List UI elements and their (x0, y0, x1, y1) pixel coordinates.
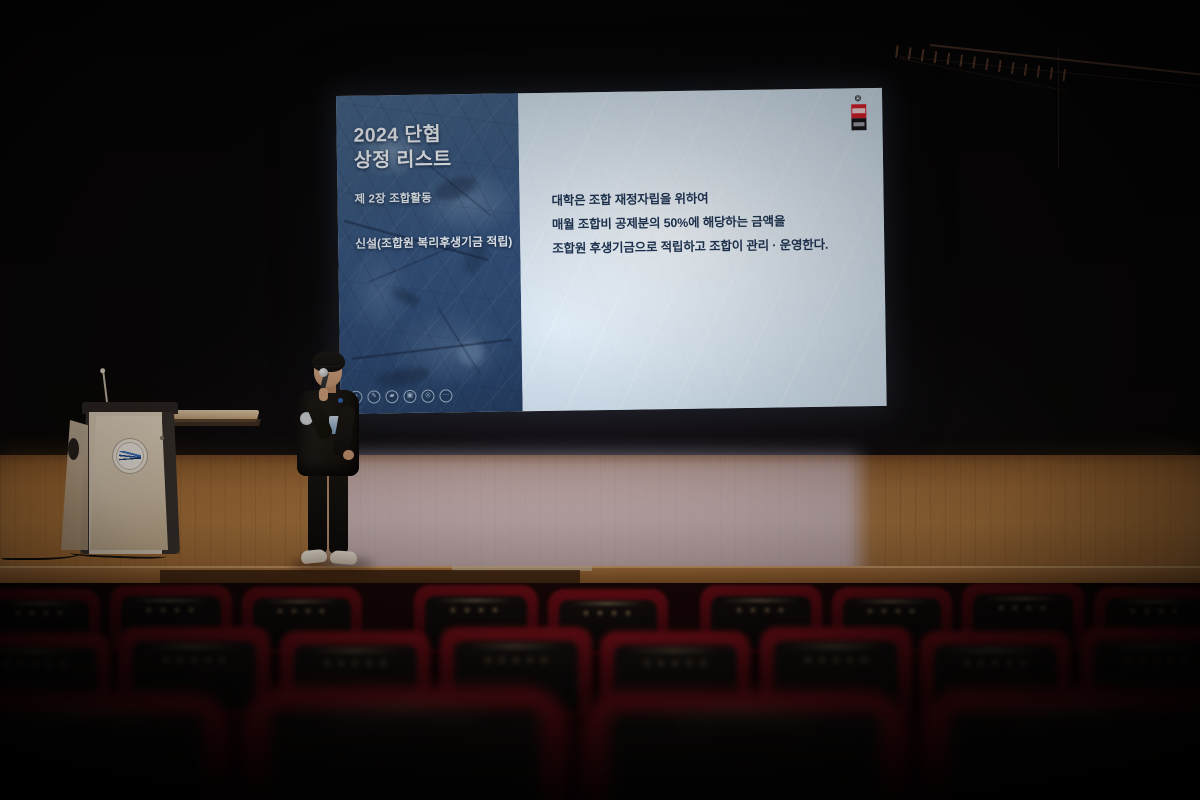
slide-chapter-label: 제 2장 조합활동 (354, 190, 432, 207)
slide-title: 2024 단협 상정 리스트 (353, 122, 451, 173)
seat-front-row (240, 687, 570, 800)
magnifier-icon[interactable]: ◎ (421, 390, 434, 403)
seat-front-row (0, 693, 230, 800)
seat-front-row (920, 689, 1200, 800)
body-line-3: 조합원 후생기금으로 적립하고 조합이 관리 · 운영한다. (552, 233, 872, 262)
badge-black-block (851, 118, 866, 130)
university-crest-emblem (112, 438, 148, 474)
stage-spotlight-pool (330, 455, 860, 583)
stage-warm-light-right (840, 455, 1200, 583)
speaker-person (286, 354, 372, 570)
microphone-icon (319, 368, 328, 377)
slide-right-panel: ❂ 대학은 조합 재정자립을 위하여 매월 조합비 공제분의 50%에 해당하는… (518, 88, 887, 411)
badge-red-block (851, 104, 866, 118)
speaker-shoe-left (300, 549, 327, 565)
organization-badge-logo: ❂ (851, 102, 866, 132)
podium-front-face (90, 416, 168, 550)
audience-seating (0, 583, 1200, 800)
projection-screen: 2024 단협 상정 리스트 제 2장 조합활동 신설(조합원 복리후생기금 적… (336, 88, 887, 414)
speaker-shoe-right (330, 550, 358, 565)
highlighter-icon[interactable]: ▰ (385, 390, 398, 403)
podium-control-button[interactable] (160, 436, 164, 440)
ceiling-rig-post (1058, 48, 1059, 168)
slide-title-line-1: 2024 단협 (353, 122, 451, 148)
podium-handle-cutout (68, 438, 79, 460)
lapel-pin-icon (338, 398, 343, 403)
speaker-leg-left (308, 472, 327, 554)
eraser-icon[interactable]: ▣ (403, 390, 416, 403)
slide-body-text: 대학은 조합 재정자립을 위하여 매월 조합비 공제분의 50%에 해당하는 금… (551, 185, 872, 261)
seat-front-row (580, 691, 910, 800)
speaker-leg-right (329, 472, 348, 554)
slide-section-label: 신설(조합원 복리후생기금 적립) (355, 232, 512, 251)
stage-edge-highlight (0, 566, 1200, 568)
slide-title-line-2: 상정 리스트 (354, 147, 452, 173)
more-options-icon[interactable]: ⋯ (439, 389, 452, 402)
emblem-ring (116, 442, 144, 470)
auditorium-scene: 2024 단협 상정 리스트 제 2장 조합활동 신설(조합원 복리후생기금 적… (0, 0, 1200, 800)
podium (60, 372, 240, 557)
speaker-hand-right (343, 450, 354, 460)
badge-mark-icon: ❂ (855, 95, 863, 102)
speaker-hand-left (319, 388, 328, 401)
